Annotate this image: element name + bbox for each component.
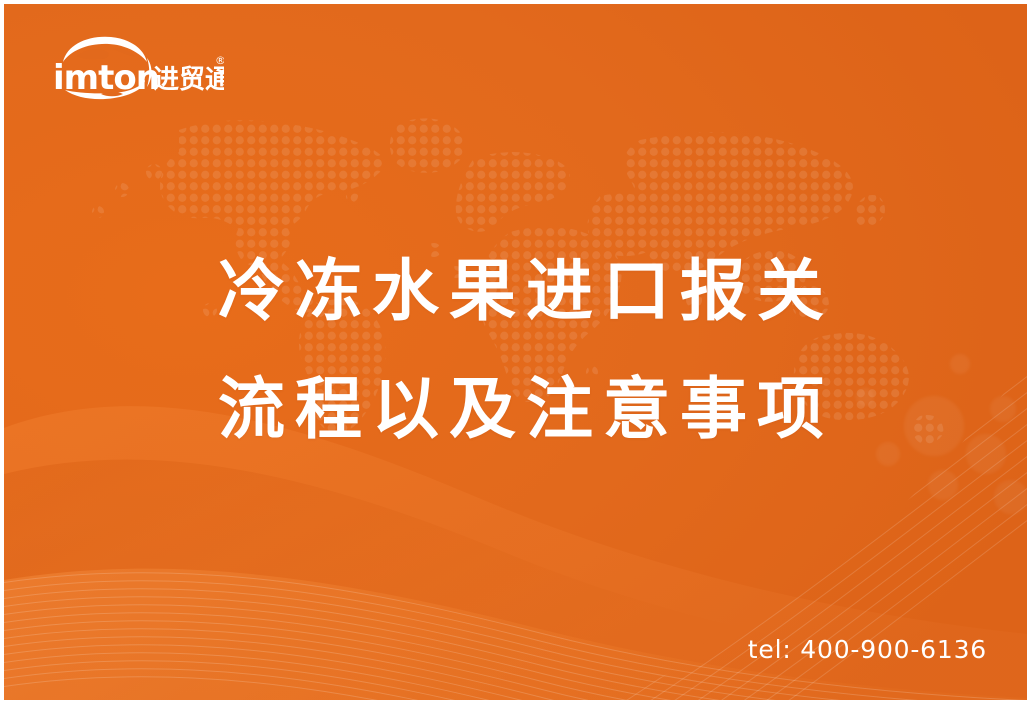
logo-wordmark: imton bbox=[53, 58, 159, 98]
headline-line-2: 流程以及注意事项 bbox=[218, 350, 858, 468]
poster-inner-canvas: imton 进贸通 ® 冷冻水果进口报关 流程以及注意事项 tel: 400-9… bbox=[4, 4, 1027, 700]
page-title: 冷冻水果进口报关 流程以及注意事项 bbox=[218, 232, 858, 468]
logo-chinese-text: 进贸通 bbox=[153, 65, 224, 95]
headline-line-1: 冷冻水果进口报关 bbox=[218, 232, 858, 350]
logo-trademark-icon: ® bbox=[215, 54, 224, 67]
contact-phone[interactable]: tel: 400-900-6136 bbox=[748, 635, 987, 664]
poster-canvas: imton 进贸通 ® 冷冻水果进口报关 流程以及注意事项 tel: 400-9… bbox=[0, 0, 1031, 704]
brand-logo[interactable]: imton 进贸通 ® bbox=[49, 32, 224, 102]
